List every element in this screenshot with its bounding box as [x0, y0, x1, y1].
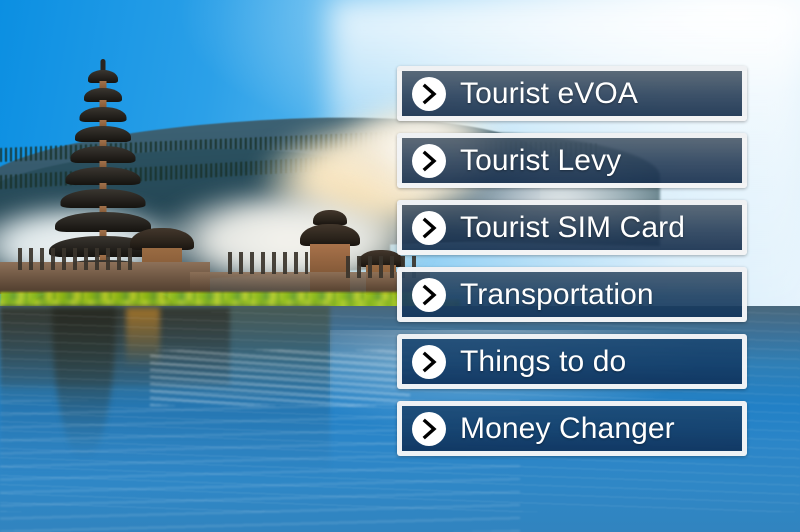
statue-row-center [228, 252, 308, 274]
menu-item-label: Tourist Levy [460, 146, 621, 176]
menu-item-money-changer[interactable]: Money Changer [397, 401, 747, 456]
bali-tourist-services-page: Tourist eVOA Tourist Levy Tourist SIM Ca… [0, 0, 800, 532]
menu-item-label: Money Changer [460, 414, 675, 444]
menu-item-label: Tourist SIM Card [460, 213, 685, 243]
chevron-right-circle-icon [412, 211, 446, 245]
service-menu: Tourist eVOA Tourist Levy Tourist SIM Ca… [397, 66, 747, 456]
chevron-right-circle-icon [412, 77, 446, 111]
menu-item-things-to-do[interactable]: Things to do [397, 334, 747, 389]
menu-item-label: Things to do [460, 347, 626, 377]
menu-item-transportation[interactable]: Transportation [397, 267, 747, 322]
chevron-right-circle-icon [412, 144, 446, 178]
chevron-right-circle-icon [412, 412, 446, 446]
chevron-right-circle-icon [412, 345, 446, 379]
statue-row-left [18, 248, 138, 270]
menu-item-label: Transportation [460, 280, 654, 310]
menu-item-tourist-levy[interactable]: Tourist Levy [397, 133, 747, 188]
menu-item-label: Tourist eVOA [460, 79, 638, 109]
menu-item-tourist-sim-card[interactable]: Tourist SIM Card [397, 200, 747, 255]
menu-item-tourist-evoa[interactable]: Tourist eVOA [397, 66, 747, 121]
chevron-right-circle-icon [412, 278, 446, 312]
